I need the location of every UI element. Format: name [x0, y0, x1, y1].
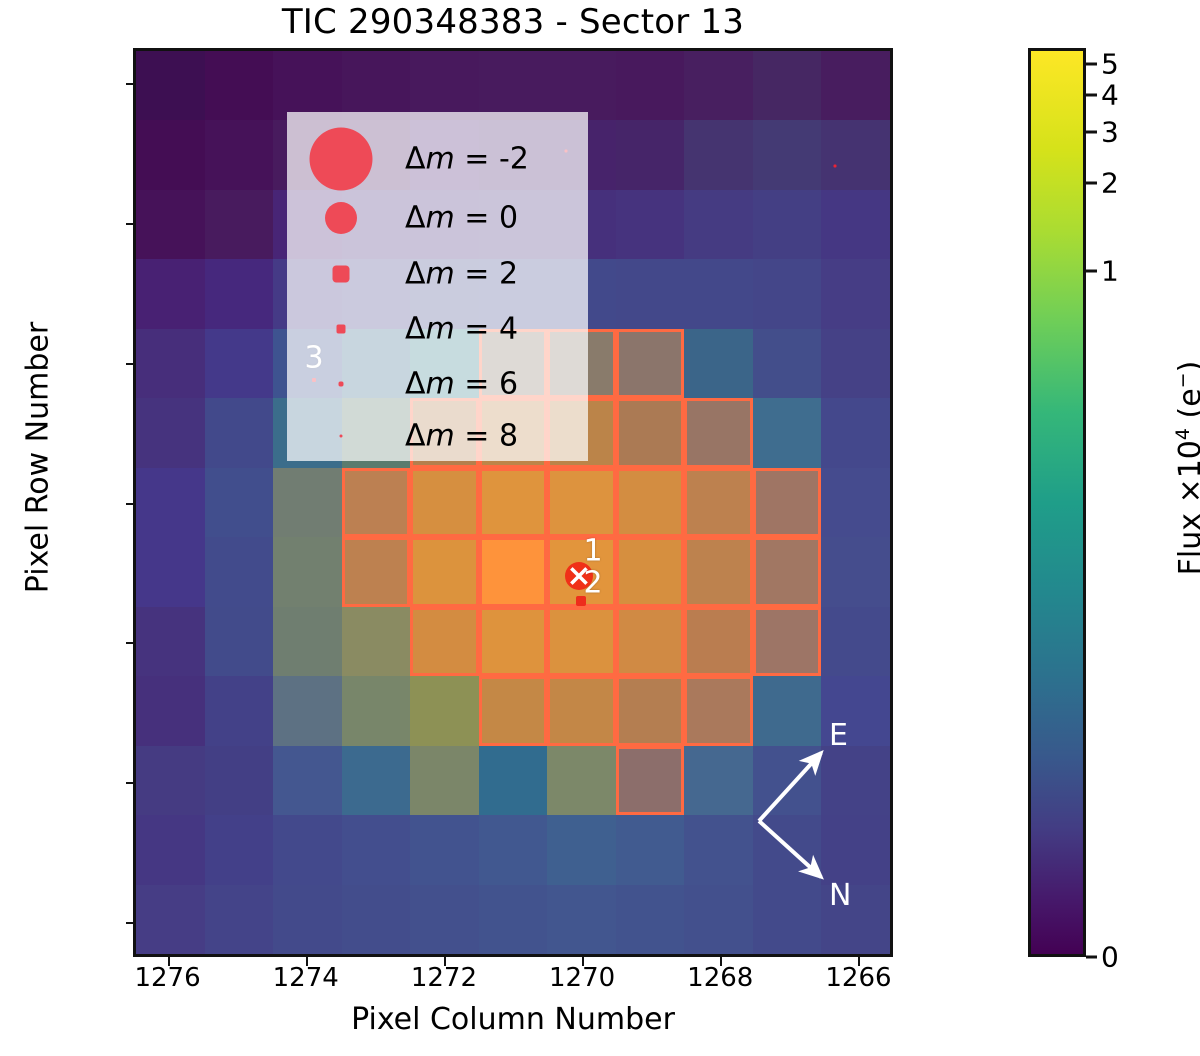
legend-marker-0: [310, 128, 373, 191]
colorbar-tick-mark: [1086, 956, 1097, 959]
colorbar-title: Flux ×104 (e−): [1172, 238, 1200, 698]
x-tick-label: 1266: [788, 963, 928, 993]
colorbar-tick-label: 4: [1101, 79, 1119, 112]
x-tick-label: 1270: [512, 963, 652, 993]
magnitude-legend: Δm = -2Δm = 0Δm = 2Δm = 4Δm = 6Δm = 8: [287, 112, 588, 461]
colorbar-tick-mark: [1086, 181, 1097, 184]
colorbar-tick-label: 1: [1101, 254, 1119, 287]
faint-star-marker: [834, 165, 837, 168]
colorbar-tick-label: 2: [1101, 166, 1119, 199]
legend-label-3: Δm = 4: [405, 312, 518, 347]
source-id-label-2: 2: [583, 566, 602, 601]
legend-marker-4: [339, 382, 344, 387]
y-axis-label: Pixel Row Number: [21, 228, 56, 688]
x-axis-label: Pixel Column Number: [133, 1002, 893, 1037]
colorbar: [1028, 48, 1086, 957]
colorbar-tick-mark: [1086, 94, 1097, 97]
legend-label-2: Δm = 2: [405, 257, 518, 292]
legend-label-1: Δm = 0: [405, 201, 518, 236]
legend-marker-2: [333, 266, 350, 283]
x-tick-label: 1276: [98, 963, 238, 993]
x-tick-label: 1274: [236, 963, 376, 993]
legend-label-0: Δm = -2: [405, 142, 529, 177]
legend-label-5: Δm = 8: [405, 419, 518, 454]
colorbar-tick-mark: [1086, 130, 1097, 133]
source-id-label-1: 1: [583, 534, 602, 569]
x-tick-label: 1268: [650, 963, 790, 993]
legend-marker-3: [337, 325, 346, 334]
page-title: TIC 290348383 - Sector 13: [133, 2, 893, 42]
colorbar-tick-label: 5: [1101, 48, 1119, 81]
legend-marker-1: [325, 202, 357, 234]
x-tick-mark: [306, 957, 308, 966]
x-tick-mark: [582, 957, 584, 966]
compass-east-label: E: [829, 718, 848, 753]
pixel-heatmap[interactable]: E N ×123 Δm = -2Δm = 0Δm = 2Δm = 4Δm = 6…: [133, 48, 893, 957]
x-tick-mark: [720, 957, 722, 966]
x-tick-mark: [858, 957, 860, 966]
colorbar-tick-label: 3: [1101, 115, 1119, 148]
legend-label-4: Δm = 6: [405, 367, 518, 402]
x-tick-mark: [444, 957, 446, 966]
legend-marker-5: [340, 435, 343, 438]
x-tick-label: 1272: [374, 963, 514, 993]
x-tick-mark: [168, 957, 170, 966]
colorbar-tick-label: 0: [1101, 941, 1119, 974]
compass-north-label: N: [829, 878, 851, 913]
colorbar-tick-mark: [1086, 269, 1097, 272]
compass-north-arrow: [759, 821, 821, 877]
colorbar-tick-mark: [1086, 63, 1097, 66]
compass-east-arrow: [759, 753, 821, 821]
